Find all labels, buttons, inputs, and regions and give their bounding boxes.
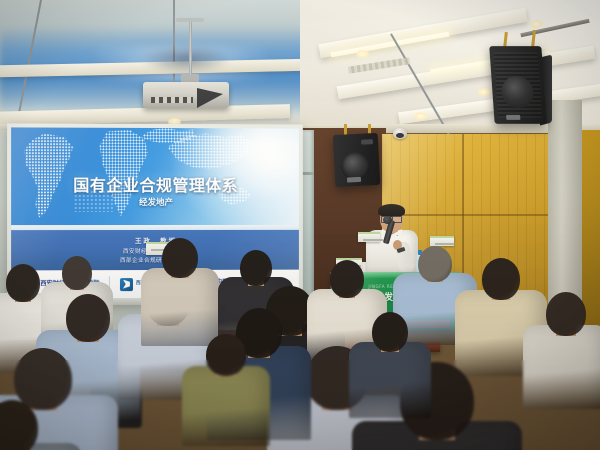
person-head xyxy=(6,264,40,302)
hanging-speaker-right xyxy=(489,46,547,124)
person-torso xyxy=(349,342,431,418)
audience-area xyxy=(0,250,600,450)
dome-security-camera-icon xyxy=(393,128,407,139)
name-card xyxy=(358,232,380,242)
person-bottom-left-foreground xyxy=(0,400,126,450)
slide-subtitle: 经发地产 xyxy=(11,196,299,208)
person-head xyxy=(206,334,246,376)
person-head xyxy=(372,312,408,352)
person-head xyxy=(62,256,92,290)
person-seated-light-shirt-right xyxy=(372,312,454,428)
person-head xyxy=(418,246,452,282)
speaker-tweeter-icon xyxy=(361,139,373,145)
slide-title: 国有企业合规管理体系 xyxy=(11,172,299,196)
downlight-icon xyxy=(356,50,369,58)
person-head xyxy=(162,238,198,278)
downlight-icon xyxy=(530,20,543,28)
person-torso xyxy=(182,366,270,446)
downlight-icon xyxy=(478,88,491,96)
ceiling-projector xyxy=(143,82,229,108)
person-head xyxy=(330,260,364,298)
projector-pole xyxy=(189,22,192,78)
speaker-badge xyxy=(347,177,361,183)
conference-hall-photo: 国有企业合规管理体系 经发地产 王政 教授 西安财经大学法学院院长 西部企业合规… xyxy=(0,0,600,450)
person-head xyxy=(240,250,272,286)
downlight-icon xyxy=(414,112,427,120)
projector-lens-icon xyxy=(197,88,223,108)
name-card xyxy=(430,236,454,246)
slide-hero-banner: 国有企业合规管理体系 经发地产 xyxy=(11,127,299,225)
person-head xyxy=(0,400,38,450)
person-head xyxy=(546,292,586,336)
microphone-head-icon xyxy=(383,216,392,224)
person-olive-top-seated xyxy=(206,334,294,450)
person-head xyxy=(482,258,520,300)
wall-speaker-left xyxy=(333,133,381,187)
projector-shadow xyxy=(140,44,232,74)
speaker-badge xyxy=(506,115,520,120)
person-head xyxy=(66,294,110,342)
